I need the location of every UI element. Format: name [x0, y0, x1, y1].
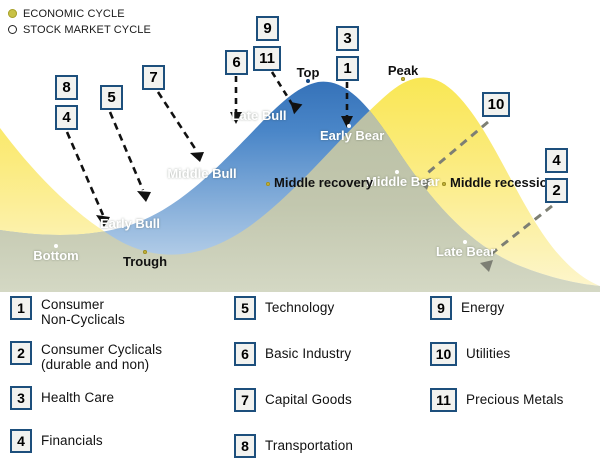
sector-item-2[interactable]: 2 Consumer Cyclicals (durable and non)	[10, 341, 220, 372]
sector-label-1: Consumer Non-Cyclicals	[41, 296, 125, 327]
sector-item-3[interactable]: 3 Health Care	[10, 386, 220, 410]
label-middle-bear: Middle Bear	[366, 170, 428, 188]
callout-box-7[interactable]: 7	[142, 65, 165, 90]
sector-label-9: Energy	[461, 296, 504, 315]
label-middle-bull: Middle Bull	[166, 162, 238, 180]
label-early-bear: Early Bear	[320, 124, 378, 142]
sector-number-11: 11	[430, 388, 457, 412]
sector-item-1[interactable]: 1 Consumer Non-Cyclicals	[10, 296, 220, 327]
sector-label-10: Utilities	[466, 342, 510, 361]
label-trough: Trough	[110, 250, 180, 268]
sector-item-5[interactable]: 5 Technology	[234, 296, 414, 320]
label-peak: Peak	[382, 64, 424, 82]
sector-number-4: 4	[10, 429, 32, 453]
sector-number-1: 1	[10, 296, 32, 320]
label-middle-recession: Middle recession	[450, 176, 554, 189]
legend-label-stock-market-cycle: STOCK MARKET CYCLE	[23, 24, 151, 36]
cycle-legend: ECONOMIC CYCLE STOCK MARKET CYCLE	[8, 6, 151, 38]
sector-item-4[interactable]: 4 Financials	[10, 429, 220, 453]
cycle-chart: Bottom Early Bull Middle Bull Late Bull …	[0, 0, 600, 292]
sector-number-2: 2	[10, 341, 32, 365]
sector-item-8[interactable]: 8 Transportation	[234, 434, 414, 458]
sector-number-5: 5	[234, 296, 256, 320]
sector-number-3: 3	[10, 386, 32, 410]
label-late-bull: Late Bull	[228, 104, 290, 122]
sector-label-8: Transportation	[265, 434, 353, 453]
stock-market-cycle-circle-icon	[8, 25, 17, 34]
sector-number-7: 7	[234, 388, 256, 412]
sector-label-2: Consumer Cyclicals (durable and non)	[41, 341, 162, 372]
sector-label-4: Financials	[41, 429, 103, 448]
economic-cycle-dot-icon	[8, 9, 17, 18]
callout-box-4-left[interactable]: 4	[55, 105, 78, 130]
label-early-bull: Early Bull	[98, 212, 162, 230]
callout-box-1[interactable]: 1	[336, 56, 359, 81]
sector-legend-column-3: 9 Energy 10 Utilities 11 Precious Metals	[430, 296, 600, 412]
callout-box-5[interactable]: 5	[100, 85, 123, 110]
legend-item-stock-market-cycle: STOCK MARKET CYCLE	[8, 22, 151, 37]
label-bottom: Bottom	[20, 244, 92, 262]
callout-box-2[interactable]: 2	[545, 178, 568, 203]
callout-box-3[interactable]: 3	[336, 26, 359, 51]
label-middle-recovery: Middle recovery	[274, 176, 372, 189]
callout-box-8[interactable]: 8	[55, 75, 78, 100]
legend-item-economic-cycle: ECONOMIC CYCLE	[8, 6, 151, 21]
callout-box-9[interactable]: 9	[256, 16, 279, 41]
sector-label-11: Precious Metals	[466, 388, 564, 407]
sector-legend-column-1: 1 Consumer Non-Cyclicals 2 Consumer Cycl…	[10, 296, 220, 453]
sector-item-9[interactable]: 9 Energy	[430, 296, 600, 320]
sector-legend-column-2: 5 Technology 6 Basic Industry 7 Capital …	[234, 296, 414, 458]
marker-dot-middle-recovery	[266, 182, 270, 186]
sector-label-7: Capital Goods	[265, 388, 352, 407]
callout-box-6[interactable]: 6	[225, 50, 248, 75]
sector-number-8: 8	[234, 434, 256, 458]
sector-item-11[interactable]: 11 Precious Metals	[430, 388, 600, 412]
callout-box-4-right[interactable]: 4	[545, 148, 568, 173]
callout-box-11[interactable]: 11	[253, 46, 281, 71]
sector-number-10: 10	[430, 342, 457, 366]
label-top: Top	[286, 66, 330, 84]
sector-number-6: 6	[234, 342, 256, 366]
sector-item-6[interactable]: 6 Basic Industry	[234, 342, 414, 366]
legend-label-economic-cycle: ECONOMIC CYCLE	[23, 8, 125, 20]
sector-number-9: 9	[430, 296, 452, 320]
sector-label-6: Basic Industry	[265, 342, 351, 361]
callout-box-10[interactable]: 10	[482, 92, 510, 117]
sector-legend: 1 Consumer Non-Cyclicals 2 Consumer Cycl…	[0, 296, 600, 474]
marker-dot-middle-recession	[442, 182, 446, 186]
sector-label-3: Health Care	[41, 386, 114, 405]
sector-item-7[interactable]: 7 Capital Goods	[234, 388, 414, 412]
sector-label-5: Technology	[265, 296, 334, 315]
sector-item-10[interactable]: 10 Utilities	[430, 342, 600, 366]
label-late-bear: Late Bear	[436, 240, 494, 258]
